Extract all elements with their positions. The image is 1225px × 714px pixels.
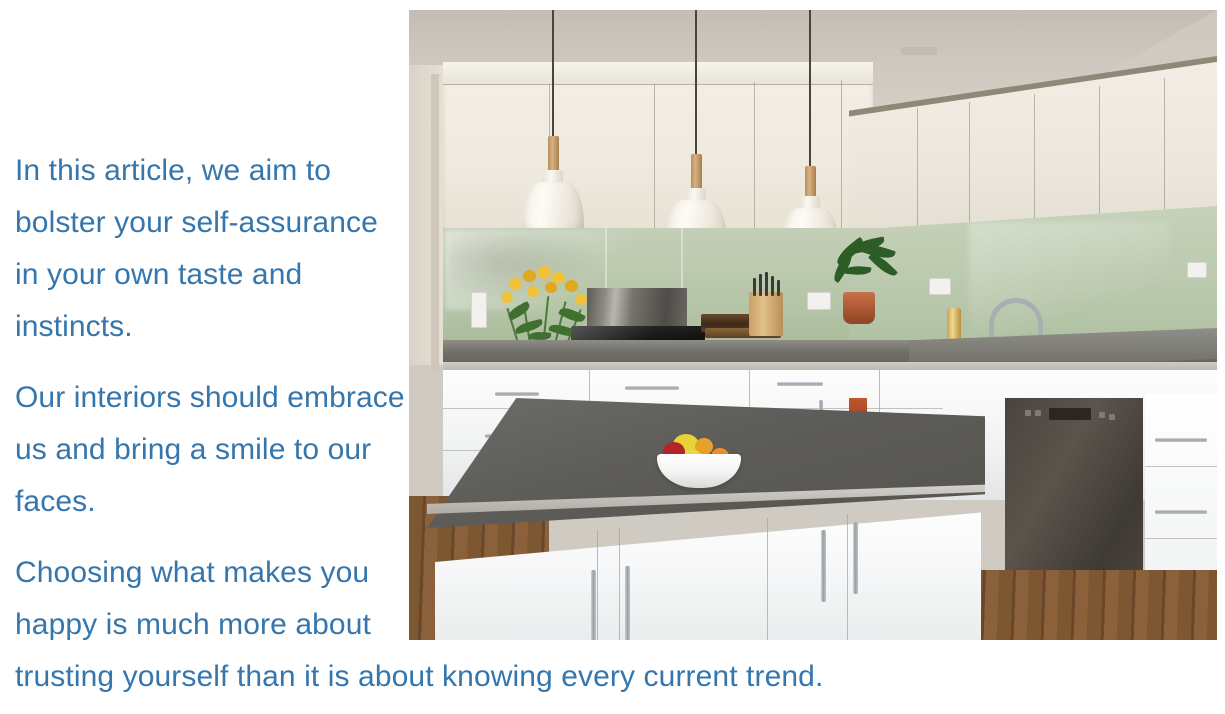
drawer-handle[interactable] [1155, 510, 1207, 514]
yellow-rose [509, 278, 522, 290]
island-door-seam [597, 530, 598, 640]
door-frame [431, 74, 439, 374]
island-door-handle[interactable] [591, 570, 596, 640]
island-door-handle[interactable] [625, 566, 630, 640]
cabinet-seam [754, 82, 755, 247]
power-outlet [929, 278, 951, 295]
dishwasher-button[interactable] [1035, 410, 1041, 416]
ceiling-vent-icon [901, 47, 937, 55]
kitchen-photo: Modern white kitchen with green glass sp… [409, 10, 1217, 640]
drawer-handle[interactable] [625, 386, 679, 390]
pendant-cord [809, 10, 811, 170]
yellow-rose [523, 270, 536, 282]
light-switch [471, 292, 487, 328]
island-door-seam [767, 518, 768, 640]
yellow-rose [545, 282, 557, 293]
yellow-rose [527, 286, 539, 297]
island-door-handle[interactable] [853, 522, 858, 594]
drawer-handle[interactable] [495, 392, 539, 396]
page-root: Modern white kitchen with green glass sp… [0, 0, 1225, 714]
island-door-handle[interactable] [821, 530, 826, 602]
pendant-wood-stem [691, 154, 702, 192]
drawer-seam [1145, 466, 1217, 467]
knife-handle [753, 278, 756, 296]
terracotta-pot [843, 292, 875, 324]
drawer-handle[interactable] [1155, 438, 1207, 442]
pendant-cord [552, 10, 554, 140]
yellow-rose [537, 266, 551, 279]
stainless-splashback [587, 288, 687, 330]
knife-handle [777, 280, 780, 296]
power-outlet [807, 292, 831, 310]
knife-block [749, 292, 783, 336]
cabinet-seam [841, 80, 842, 247]
island-door-seam [847, 514, 848, 640]
pendant-cord [695, 10, 697, 158]
timber-floor [969, 570, 1217, 640]
knife-handle [765, 272, 768, 296]
cabinet-seam [654, 84, 655, 247]
yellow-rose [501, 292, 513, 303]
drawer-seam [1145, 538, 1217, 539]
pendant-wood-stem [548, 136, 559, 174]
yellow-rose [565, 280, 578, 292]
dishwasher-button[interactable] [1109, 414, 1115, 420]
island-door-seam [619, 528, 620, 640]
power-outlet [1187, 262, 1207, 278]
pendant-wood-stem [805, 166, 816, 200]
drawer-handle[interactable] [777, 382, 823, 386]
dishwasher-button[interactable] [1025, 410, 1031, 416]
knife-handle [771, 276, 774, 296]
cooktop-gloss [571, 326, 705, 340]
dishwasher-display [1049, 408, 1091, 420]
knife-handle [759, 274, 762, 296]
dishwasher-button[interactable] [1099, 412, 1105, 418]
yellow-rose [575, 294, 587, 305]
